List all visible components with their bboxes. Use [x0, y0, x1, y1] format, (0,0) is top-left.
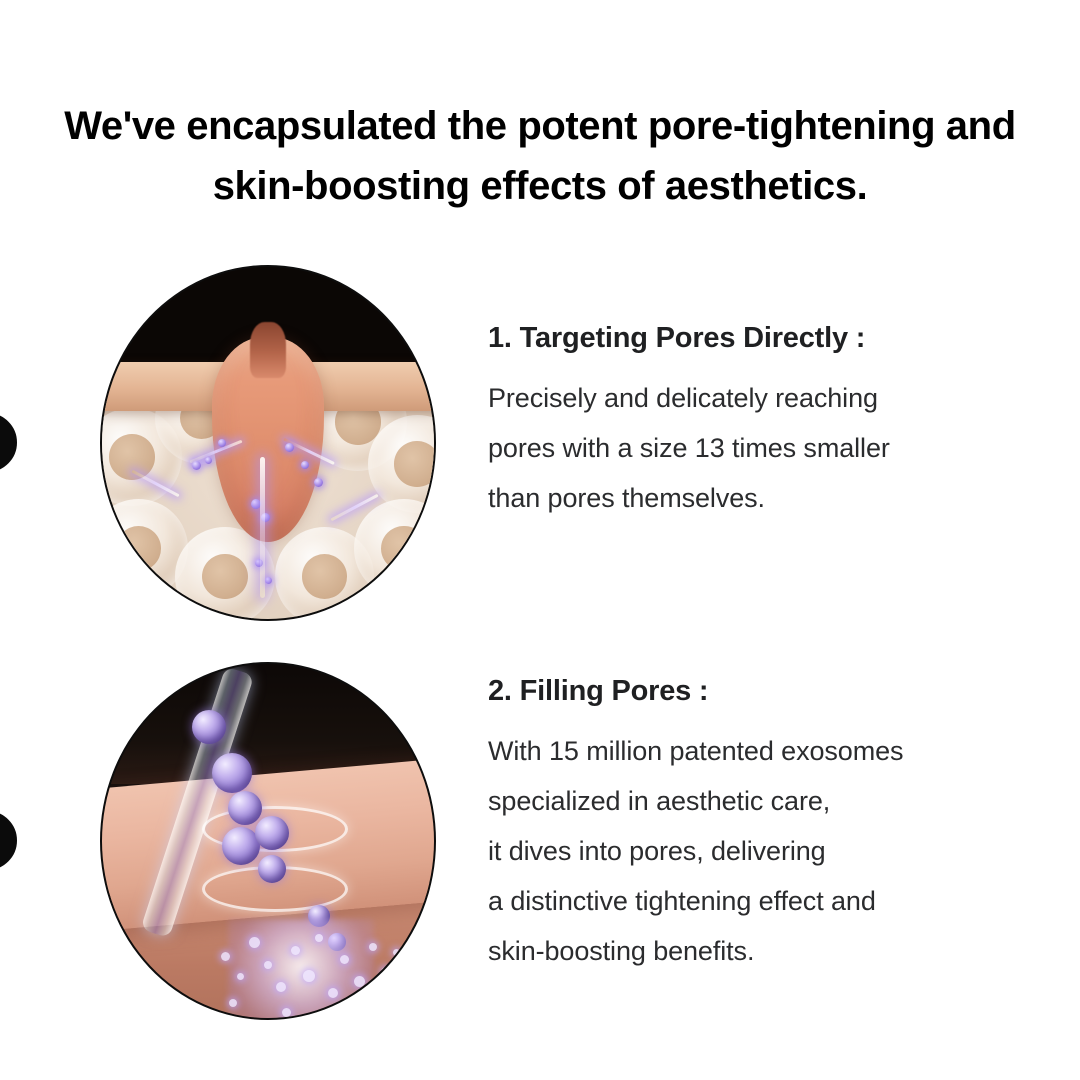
step-2-body: With 15 million patented exosomes specia… [488, 726, 988, 976]
exosome-bead [255, 816, 289, 850]
exosome-particle [265, 577, 272, 584]
particle [276, 982, 286, 992]
exosome-bead [258, 855, 286, 883]
step-1-section: 1 1. Targeting Pores Directly : Precisel… [0, 265, 1080, 620]
body-line: pores with a size 13 times smaller [488, 423, 988, 473]
body-line: skin-boosting benefits. [488, 926, 988, 976]
body-line: specialized in aesthetic care, [488, 776, 988, 826]
exosome-bead [222, 827, 260, 865]
step-2-text: 2. Filling Pores : With 15 million paten… [488, 675, 988, 976]
particle [264, 961, 272, 969]
step-1-text: 1. Targeting Pores Directly : Precisely … [488, 322, 988, 523]
step-2-badge: 2 [0, 809, 19, 872]
step-2-image [100, 662, 436, 1020]
exosome-bead [212, 753, 252, 793]
photo1-injection-stream [260, 457, 265, 598]
step-2-title: 2. Filling Pores : [488, 675, 988, 708]
body-line: With 15 million patented exosomes [488, 726, 988, 776]
particle [315, 934, 323, 942]
particle [393, 949, 400, 956]
particle [303, 970, 315, 982]
exosome-particle [285, 443, 294, 452]
particle [221, 952, 230, 961]
photo2-particle-spray [208, 883, 414, 1018]
particle [373, 1002, 383, 1012]
exosome-particle [205, 457, 212, 464]
particle [381, 967, 391, 977]
step-1-badge: 1 [0, 411, 19, 474]
step-1-body: Precisely and delicately reaching pores … [488, 373, 988, 523]
particle [369, 943, 377, 951]
particle [282, 1008, 291, 1017]
exosome-particle [301, 461, 309, 469]
particle [249, 937, 260, 948]
particle [354, 976, 365, 987]
exosome-bead [192, 710, 226, 744]
exosome-particle [192, 461, 201, 470]
pore-cross-section-illustration [102, 267, 434, 619]
needle-filling-pore-illustration [102, 664, 434, 1018]
body-line: a distinctive tightening effect and [488, 876, 988, 926]
particle [291, 946, 300, 955]
photo1-pore-opening [250, 322, 287, 378]
headline-line-1: We've encapsulated the potent pore-tight… [0, 96, 1080, 156]
step-2-section: 2 2. Filling Pores : With 15 million pat… [0, 662, 1080, 1020]
body-line: than pores themselves. [488, 473, 988, 523]
particle [237, 973, 244, 980]
particle [229, 999, 237, 1007]
page-headline: We've encapsulated the potent pore-tight… [0, 96, 1080, 216]
particle [340, 955, 349, 964]
particle [328, 988, 338, 998]
particle [332, 1014, 340, 1018]
infographic-page: We've encapsulated the potent pore-tight… [0, 0, 1080, 1080]
body-line: it dives into pores, delivering [488, 826, 988, 876]
step-1-title: 1. Targeting Pores Directly : [488, 322, 988, 355]
step-1-image [100, 265, 436, 621]
body-line: Precisely and delicately reaching [488, 373, 988, 423]
headline-line-2: skin-boosting effects of aesthetics. [0, 156, 1080, 216]
